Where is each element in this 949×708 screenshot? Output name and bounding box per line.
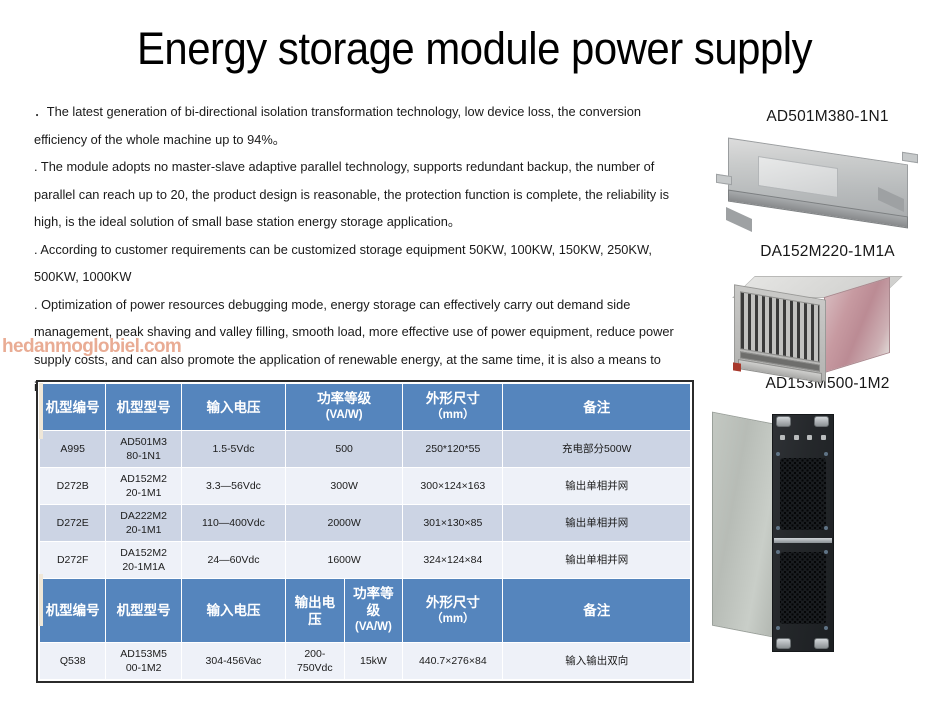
cell-model-type-line1: AD152M2 xyxy=(108,472,179,486)
description-block: ．The latest generation of bi-directional… xyxy=(34,98,682,401)
cell-model-type: DA152M2 20-1M1A xyxy=(106,542,182,579)
status-led-row xyxy=(780,434,826,441)
fan-grille-icon-top xyxy=(780,458,826,530)
cell-dimensions: 301×130×85 xyxy=(403,505,503,542)
cell-power-level: 15kW xyxy=(344,643,403,680)
cell-remarks: 输出单相并网 xyxy=(503,505,691,542)
header-power-level-text: 功率等级 xyxy=(317,391,371,406)
status-led-icon xyxy=(807,435,812,440)
cell-input-voltage: 304-456Vac xyxy=(181,643,285,680)
cell-power-level: 500 xyxy=(286,431,403,468)
header2-power-level-text: 功率等级 xyxy=(353,586,394,618)
product-label-ad153m500-1m2: AD153M500-1M2 xyxy=(706,375,949,393)
cell-output-voltage-line1: 200- xyxy=(288,647,342,661)
header-input-voltage: 输入电压 xyxy=(181,384,285,431)
cell-model-type-line1: AD501M3 xyxy=(108,435,179,449)
table-row: Q538 AD153M5 00-1M2 304-456Vac 200- 750V… xyxy=(40,643,691,680)
status-led-icon xyxy=(794,435,799,440)
thumbscrew-icon-top-right xyxy=(814,416,829,427)
header2-model-no: 机型编号 xyxy=(40,579,106,643)
description-paragraph-1: ．The latest generation of bi-directional… xyxy=(34,98,682,153)
cell-dimensions: 250*120*55 xyxy=(403,431,503,468)
panel-screw-icon xyxy=(824,452,828,456)
cell-remarks: 输出单相并网 xyxy=(503,468,691,505)
description-paragraph-2: . The module adopts no master-slave adap… xyxy=(34,153,682,236)
cell-model-type-line1: DA222M2 xyxy=(108,509,179,523)
rack-unit-side-panel xyxy=(712,412,778,639)
page-title: Energy storage module power supply xyxy=(33,24,916,74)
panel-screw-icon xyxy=(776,550,780,554)
status-led-icon xyxy=(780,435,785,440)
cell-model-no: D272F xyxy=(40,542,106,579)
header-dimensions-unit: （mm） xyxy=(405,407,500,424)
thumbscrew-icon-top-left xyxy=(776,416,791,427)
header2-dimensions-unit: （mm） xyxy=(405,611,500,628)
header2-remarks: 备注 xyxy=(503,579,691,643)
header-power-level: 功率等级 (VA/W) xyxy=(286,384,403,431)
cell-model-no: D272B xyxy=(40,468,106,505)
header-power-level-unit: (VA/W) xyxy=(288,407,400,424)
cell-model-no: Q538 xyxy=(40,643,106,680)
panel-screw-icon xyxy=(776,452,780,456)
cell-input-voltage: 110—400Vdc xyxy=(181,505,285,542)
cell-dimensions: 324×124×84 xyxy=(403,542,503,579)
table-row: D272F DA152M2 20-1M1A 24—60Vdc 1600W 324… xyxy=(40,542,691,579)
description-paragraph-3: . According to customer requirements can… xyxy=(34,236,682,291)
header2-input-voltage: 输入电压 xyxy=(181,579,285,643)
cell-model-type: AD152M2 20-1M1 xyxy=(106,468,182,505)
product-label-ad501m380-1n1: AD501M380-1N1 xyxy=(706,108,949,126)
cell-output-voltage-line2: 750Vdc xyxy=(288,661,342,675)
table-row: A995 AD501M3 80-1N1 1.5-5Vdc 500 250*120… xyxy=(40,431,691,468)
spec-header-row-1: 机型编号 机型型号 输入电压 功率等级 (VA/W) 外形尺寸 （mm） 备注 xyxy=(40,384,691,431)
table-row: D272B AD152M2 20-1M1 3.3—56Vdc 300W 300×… xyxy=(40,468,691,505)
module-latch-tab xyxy=(733,362,741,371)
header-model-type: 机型型号 xyxy=(106,384,182,431)
cell-power-level: 1600W xyxy=(286,542,403,579)
cell-input-voltage: 3.3—56Vdc xyxy=(181,468,285,505)
cell-model-no: A995 xyxy=(40,431,106,468)
header2-output-voltage: 输出电压 xyxy=(286,579,345,643)
cell-model-type: AD153M5 00-1M2 xyxy=(106,643,182,680)
mounting-ear-right xyxy=(902,152,918,163)
product-image-ad501m380-1n1 xyxy=(706,135,949,243)
product-label-da152m220-1m1a: DA152M220-1M1A xyxy=(706,243,949,261)
cell-model-type-line2: 20-1M1A xyxy=(108,560,179,574)
cell-model-type-line2: 80-1N1 xyxy=(108,449,179,463)
panel-screw-icon xyxy=(776,626,780,630)
cell-remarks: 输出单相并网 xyxy=(503,542,691,579)
cell-dimensions: 300×124×163 xyxy=(403,468,503,505)
header-remarks: 备注 xyxy=(503,384,691,431)
cell-model-type-line1: DA152M2 xyxy=(108,546,179,560)
header2-dimensions: 外形尺寸 （mm） xyxy=(403,579,503,643)
chassis-foot-left xyxy=(726,207,752,232)
panel-screw-icon xyxy=(824,526,828,530)
cell-model-type-line2: 20-1M1 xyxy=(108,486,179,500)
cell-model-type-line1: AD153M5 xyxy=(108,647,179,661)
header2-model-type: 机型型号 xyxy=(106,579,182,643)
cell-input-voltage: 24—60Vdc xyxy=(181,542,285,579)
panel-screw-icon xyxy=(824,550,828,554)
table-row: D272E DA222M2 20-1M1 110—400Vdc 2000W 30… xyxy=(40,505,691,542)
header2-dimensions-text: 外形尺寸 xyxy=(426,595,480,610)
spec-header-row-2: 机型编号 机型型号 输入电压 输出电压 功率等级 (VA/W) 外形尺寸 （mm… xyxy=(40,579,691,643)
cell-output-voltage: 200- 750Vdc xyxy=(286,643,345,680)
thumbscrew-icon-bottom-right xyxy=(814,638,829,649)
cell-model-type-line2: 00-1M2 xyxy=(108,661,179,675)
panel-screw-icon xyxy=(824,626,828,630)
cell-remarks: 充电部分500W xyxy=(503,431,691,468)
cell-model-type: DA222M2 20-1M1 xyxy=(106,505,182,542)
cell-model-type-line2: 20-1M1 xyxy=(108,523,179,537)
product-image-ad153m500-1m2 xyxy=(706,402,949,664)
product-gallery: AD501M380-1N1 DA152M220-1M1A AD153M500-1… xyxy=(706,108,949,708)
header-dimensions-text: 外形尺寸 xyxy=(426,391,480,406)
header-dimensions: 外形尺寸 （mm） xyxy=(403,384,503,431)
cell-input-voltage: 1.5-5Vdc xyxy=(181,431,285,468)
fan-grille-icon-bottom xyxy=(780,552,826,624)
product-image-da152m220-1m1a xyxy=(706,270,949,375)
thumbscrew-icon-bottom-left xyxy=(776,638,791,649)
spec-table: 机型编号 机型型号 输入电压 功率等级 (VA/W) 外形尺寸 （mm） 备注 … xyxy=(36,380,694,683)
cell-remarks: 输入输出双向 xyxy=(503,643,691,680)
cell-model-no: D272E xyxy=(40,505,106,542)
header-model-no: 机型编号 xyxy=(40,384,106,431)
cell-power-level: 300W xyxy=(286,468,403,505)
rack-unit-divider-bar xyxy=(774,538,832,543)
mounting-ear-left xyxy=(716,174,732,185)
header2-power-level-unit: (VA/W) xyxy=(347,619,401,636)
header2-power-level: 功率等级 (VA/W) xyxy=(344,579,403,643)
cell-model-type: AD501M3 80-1N1 xyxy=(106,431,182,468)
status-led-icon xyxy=(821,435,826,440)
panel-screw-icon xyxy=(776,526,780,530)
cell-dimensions: 440.7×276×84 xyxy=(403,643,503,680)
cell-power-level: 2000W xyxy=(286,505,403,542)
